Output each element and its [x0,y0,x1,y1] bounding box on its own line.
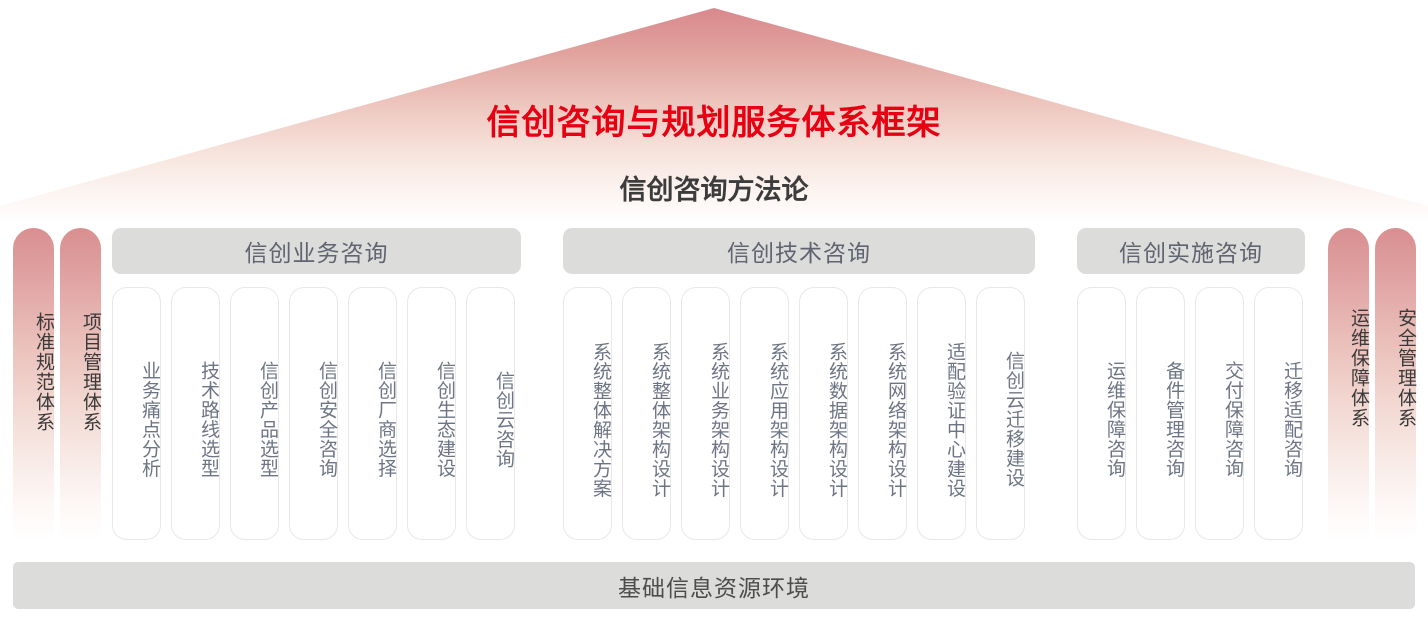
card-item[interactable]: 备件管理咨询 [1136,287,1185,540]
card-item[interactable]: 信创产品选型 [230,287,279,540]
card-label: 系统数据架构设计 [800,288,847,539]
card-label: 系统业务架构设计 [682,288,729,539]
card-item[interactable]: 信创云咨询 [466,287,515,540]
card-label: 系统应用架构设计 [741,288,788,539]
card-item[interactable]: 技术路线选型 [171,287,220,540]
card-label: 运维保障咨询 [1078,288,1125,539]
pillar-label: 项目管理体系 [60,312,101,432]
pillar-project-management: 项目管理体系 [60,228,101,540]
group-header: 信创技术咨询 [563,228,1035,274]
card-label: 技术路线选型 [172,288,219,539]
card-item[interactable]: 系统整体架构设计 [622,287,671,540]
pillar-label: 安全管理体系 [1375,308,1416,428]
card-item[interactable]: 交付保障咨询 [1195,287,1244,540]
card-label: 备件管理咨询 [1137,288,1184,539]
card-item[interactable]: 系统整体解决方案 [563,287,612,540]
card-item[interactable]: 系统应用架构设计 [740,287,789,540]
card-item[interactable]: 适配验证中心建设 [917,287,966,540]
card-label: 交付保障咨询 [1196,288,1243,539]
page-title: 信创咨询与规划服务体系框架 [0,95,1428,144]
pillar-standard-spec: 标准规范体系 [13,228,54,540]
card-item[interactable]: 信创生态建设 [407,287,456,540]
card-row: 系统整体解决方案 系统整体架构设计 系统业务架构设计 系统应用架构设计 系统数据… [563,287,1025,540]
card-item[interactable]: 业务痛点分析 [112,287,161,540]
foundation-bar: 基础信息资源环境 [13,562,1415,609]
card-item[interactable]: 运维保障咨询 [1077,287,1126,540]
diagram-canvas: 信创咨询与规划服务体系框架 信创咨询方法论 标准规范体系 项目管理体系 运维保障… [0,0,1428,627]
card-label: 迁移适配咨询 [1255,288,1302,539]
group-implementation-consulting: 信创实施咨询 运维保障咨询 备件管理咨询 交付保障咨询 迁移适配咨询 [1077,228,1305,274]
card-item[interactable]: 系统网络架构设计 [858,287,907,540]
card-label: 信创安全咨询 [290,288,337,539]
card-label: 信创云咨询 [467,288,514,539]
pillar-label: 运维保障体系 [1328,308,1369,428]
card-label: 系统整体解决方案 [564,288,611,539]
card-item[interactable]: 系统数据架构设计 [799,287,848,540]
card-item[interactable]: 信创云迁移建设 [976,287,1025,540]
pillar-label: 标准规范体系 [13,312,54,432]
group-business-consulting: 信创业务咨询 业务痛点分析 技术路线选型 信创产品选型 信创安全咨询 信创厂商选… [112,228,521,274]
card-item[interactable]: 信创厂商选择 [348,287,397,540]
card-label: 信创云迁移建设 [977,288,1024,539]
card-label: 适配验证中心建设 [918,288,965,539]
group-technology-consulting: 信创技术咨询 系统整体解决方案 系统整体架构设计 系统业务架构设计 系统应用架构… [563,228,1035,274]
card-label: 系统整体架构设计 [623,288,670,539]
card-row: 运维保障咨询 备件管理咨询 交付保障咨询 迁移适配咨询 [1077,287,1303,540]
group-header: 信创业务咨询 [112,228,521,274]
card-label: 信创产品选型 [231,288,278,539]
pillar-ops-assurance: 运维保障体系 [1328,228,1369,540]
card-label: 信创生态建设 [408,288,455,539]
card-row: 业务痛点分析 技术路线选型 信创产品选型 信创安全咨询 信创厂商选择 信创生态建… [112,287,515,540]
page-subtitle: 信创咨询方法论 [0,168,1428,207]
group-header: 信创实施咨询 [1077,228,1305,274]
pillar-security-management: 安全管理体系 [1375,228,1416,540]
card-item[interactable]: 信创安全咨询 [289,287,338,540]
card-item[interactable]: 迁移适配咨询 [1254,287,1303,540]
card-label: 业务痛点分析 [113,288,160,539]
card-label: 系统网络架构设计 [859,288,906,539]
card-item[interactable]: 系统业务架构设计 [681,287,730,540]
card-label: 信创厂商选择 [349,288,396,539]
